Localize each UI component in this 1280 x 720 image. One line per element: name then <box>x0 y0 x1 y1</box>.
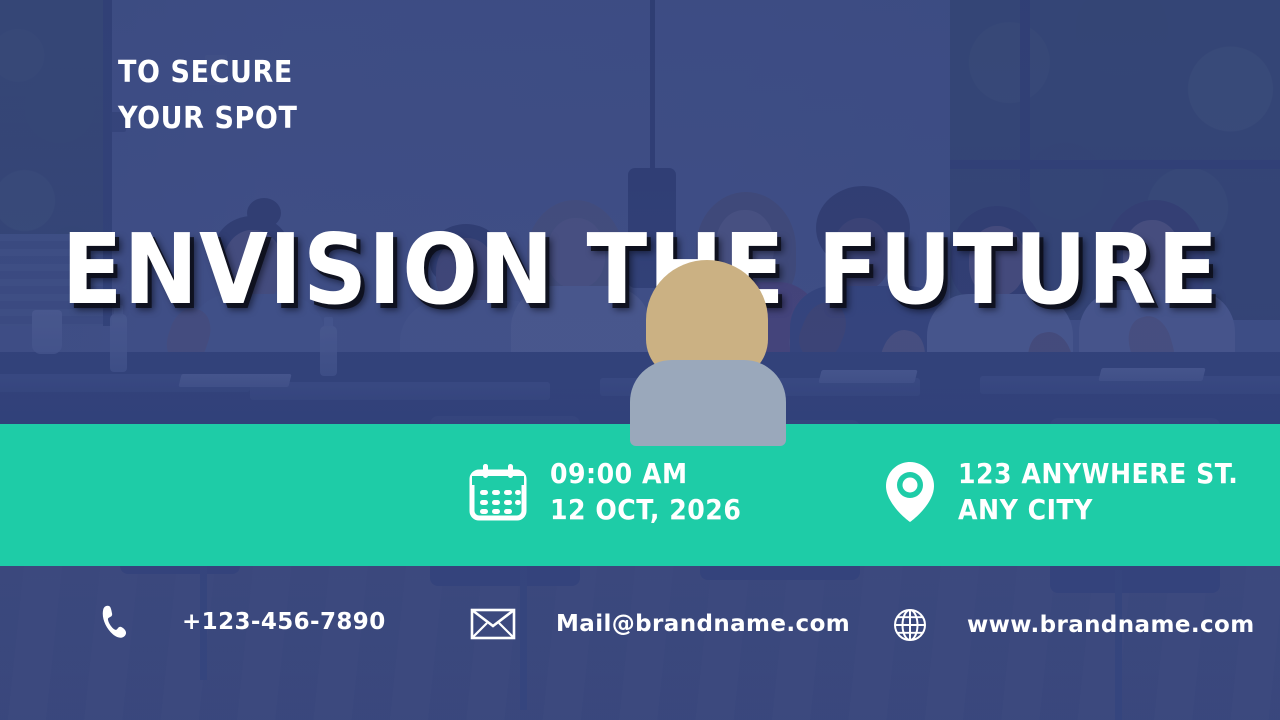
calendar-icon <box>468 462 528 522</box>
date-time-text: 09:00 AM 12 OCT, 2026 <box>550 456 741 528</box>
contact-email[interactable]: Mail@brandname.com <box>470 608 850 640</box>
event-date: 12 OCT, 2026 <box>550 492 741 528</box>
globe-icon <box>893 608 927 642</box>
phone-number: +123-456-7890 <box>182 609 386 635</box>
email-address: Mail@brandname.com <box>556 611 850 637</box>
date-time-block: 09:00 AM 12 OCT, 2026 <box>468 456 741 528</box>
phone-icon <box>100 604 130 640</box>
location-block: 123 ANYWHERE ST. ANY CITY <box>884 456 1238 528</box>
event-banner: ENVISION THE FUTURE TO SECURE YOUR SPOT <box>0 0 1280 720</box>
location-pin-icon <box>884 461 936 523</box>
location-city: ANY CITY <box>958 492 1238 528</box>
location-text: 123 ANYWHERE ST. ANY CITY <box>958 456 1238 528</box>
contact-website[interactable]: www.brandname.com <box>893 608 1255 642</box>
cta-line-2: YOUR SPOT <box>118 96 297 142</box>
cta-line-1: TO SECURE <box>118 50 297 96</box>
envelope-icon <box>470 608 516 640</box>
audience-member <box>628 190 788 440</box>
location-street: 123 ANYWHERE ST. <box>958 456 1238 492</box>
event-time: 09:00 AM <box>550 456 741 492</box>
contact-phone[interactable]: +123-456-7890 <box>100 604 386 640</box>
website-url: www.brandname.com <box>967 612 1255 638</box>
cta-text: TO SECURE YOUR SPOT <box>118 50 297 142</box>
